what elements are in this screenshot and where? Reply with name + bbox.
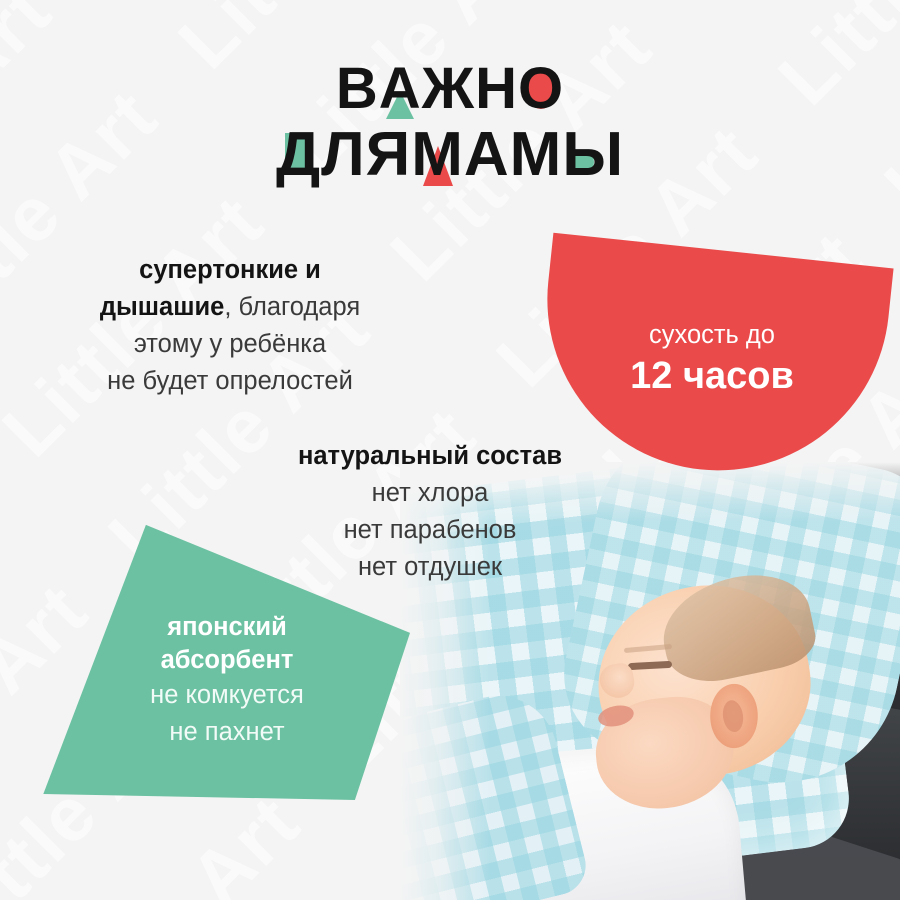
benefit-thin-breathable: супертонкие и дышашие, благодаря этому у…	[55, 252, 405, 400]
title-letter-v: В	[336, 56, 379, 122]
dryness-badge: сухость до 12 часов	[541, 250, 883, 470]
title-letter-n: Н	[475, 56, 518, 122]
absorbent-badge-text: японский абсорбент не комкуется не пахне…	[82, 611, 372, 751]
watermark-text: Little Art	[657, 0, 900, 15]
infographic-poster: Little Art Little Art Little Art Little …	[0, 0, 900, 900]
title-letter-l: Л	[321, 122, 366, 188]
title-letter-m-red: М	[411, 122, 464, 188]
title-letter-m2: М	[510, 122, 563, 188]
dryness-badge-text: сухость до 12 часов	[541, 318, 883, 400]
title-line-1: ВАЖНО	[0, 56, 900, 122]
title-letter-d-green: Д	[276, 122, 321, 188]
title-letter-zh: Ж	[422, 56, 475, 122]
title-letter-a: А	[464, 122, 510, 188]
watermark-text: Little Art	[129, 886, 422, 900]
benefit-thin-line-3: этому у ребёнка	[55, 326, 405, 363]
title-letter-ya: Я	[366, 122, 412, 188]
page-title: ВАЖНО ДЛЯ МАМЫ	[0, 56, 900, 188]
dryness-value: 12 часов	[541, 352, 883, 400]
benefit-thin-line-4: не будет опрелостей	[55, 363, 405, 400]
absorbent-line-4: не пахнет	[82, 714, 372, 751]
absorbent-line-3: не комкуется	[82, 677, 372, 714]
benefit-natural-line-3: нет парабенов	[250, 512, 610, 549]
benefit-natural-line-2: нет хлора	[250, 475, 610, 512]
benefit-natural-composition: натуральный состав нет хлора нет парабен…	[250, 438, 610, 586]
benefit-thin-line-2: дышашие, благодаря	[55, 289, 405, 326]
title-line-2: ДЛЯ МАМЫ	[0, 122, 900, 188]
dryness-label: сухость до	[541, 318, 883, 352]
benefit-natural-line-4: нет отдушек	[250, 549, 610, 586]
benefit-natural-line-1: натуральный состав	[250, 438, 610, 475]
title-letter-a-green: А	[379, 56, 422, 122]
absorbent-line-2: абсорбент	[82, 644, 372, 677]
benefit-thin-line-1: супертонкие и	[55, 252, 405, 289]
title-letter-o-red: О	[518, 56, 564, 122]
title-letter-y-green: Ы	[562, 122, 624, 188]
absorbent-line-1: японский	[82, 611, 372, 644]
